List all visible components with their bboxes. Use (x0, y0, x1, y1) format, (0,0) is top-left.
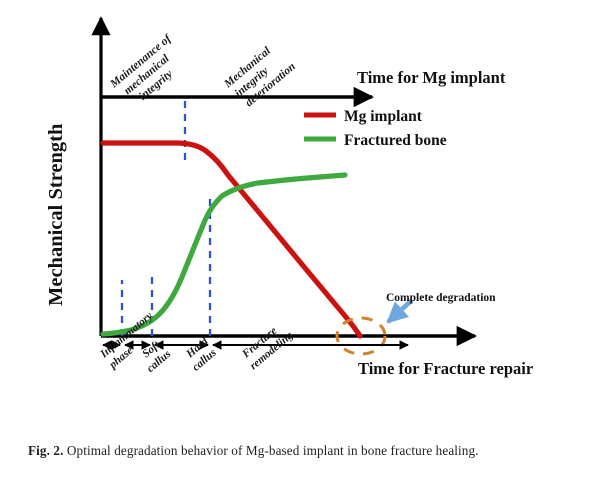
caption-divider (0, 418, 600, 419)
legend-label-mg-implant: Mg implant (344, 108, 423, 125)
caption-body: Optimal degradation behavior of Mg-based… (67, 443, 479, 458)
complete-degradation-label: Complete degradation (386, 292, 496, 304)
top-axis-label: Time for Mg implant (357, 68, 506, 87)
figure-root: Complete degradation Mechanical Strength… (0, 0, 600, 488)
caption-label: Fig. 2. (28, 443, 64, 458)
figure-caption: Fig. 2. Optimal degradation behavior of … (28, 442, 572, 460)
bottom-axis-label: Time for Fracture repair (358, 359, 533, 378)
y-axis-label: Mechanical Strength (45, 123, 67, 306)
legend-label-fractured-bone: Fractured bone (344, 132, 447, 149)
figure-chart: Complete degradation Mechanical Strength… (0, 0, 600, 424)
caption-bar: Fig. 2. Optimal degradation behavior of … (0, 424, 600, 488)
